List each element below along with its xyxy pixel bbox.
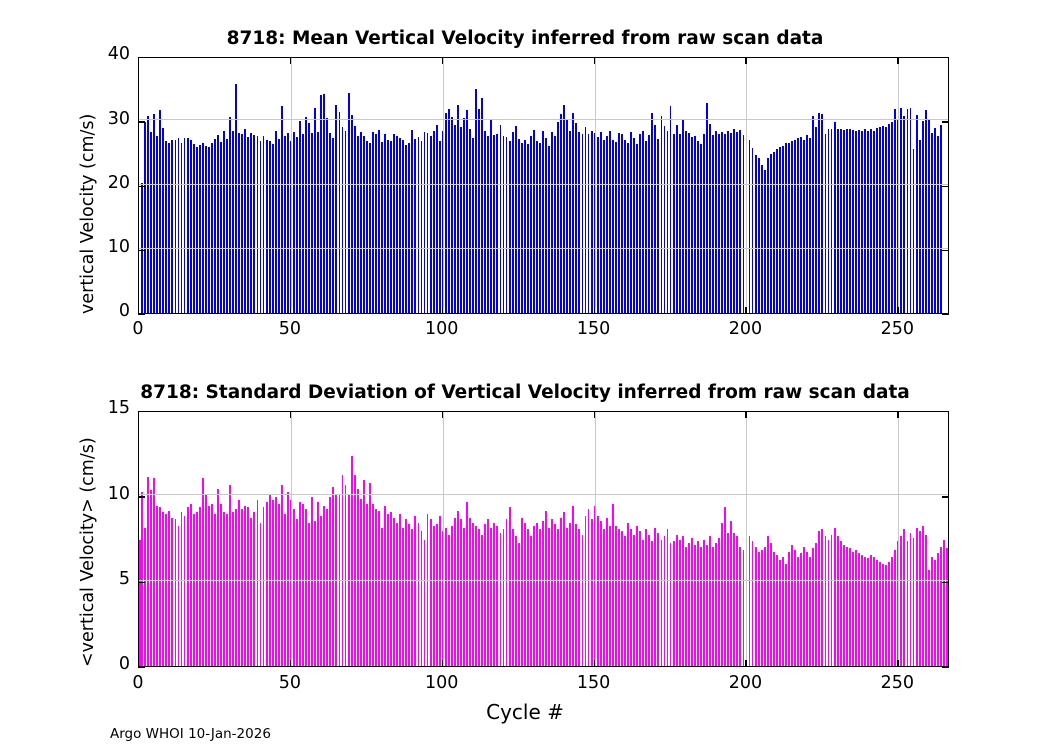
bar (797, 557, 799, 666)
bar (351, 456, 353, 666)
bar (178, 138, 180, 313)
bar (821, 114, 823, 313)
bar (837, 129, 839, 313)
bar (405, 519, 407, 666)
bar (226, 514, 228, 666)
bar (900, 108, 902, 313)
bar (925, 535, 927, 666)
bar (139, 540, 141, 666)
bar (217, 135, 219, 313)
y-tick-mark-right (942, 186, 949, 187)
bar (661, 540, 663, 666)
bar (661, 116, 663, 313)
bar (873, 131, 875, 313)
bar (645, 141, 647, 313)
bar (533, 526, 535, 666)
footer-credit: Argo WHOI 10-Jan-2026 (110, 726, 271, 742)
bar (791, 545, 793, 666)
x-gridline (898, 58, 899, 313)
y-tick-label: 10 (84, 484, 130, 504)
bar (299, 502, 301, 666)
bar (843, 130, 845, 313)
y-tick-mark-right (942, 121, 949, 122)
x-tick-label: 100 (407, 319, 477, 339)
bar (493, 523, 495, 666)
x-tick-mark-top (442, 411, 443, 418)
bar (624, 536, 626, 666)
bar (630, 132, 632, 313)
bar (831, 535, 833, 666)
bar (402, 140, 404, 313)
bar (858, 553, 860, 666)
bar (894, 109, 896, 313)
bar (506, 137, 508, 313)
bar (241, 134, 243, 313)
bar (278, 504, 280, 666)
bar (484, 131, 486, 313)
x-tick-mark-top (745, 411, 746, 418)
y-tick-mark (138, 314, 145, 315)
bar-series-std (139, 412, 948, 666)
bar (773, 552, 775, 666)
bar (788, 552, 790, 666)
bar (335, 105, 337, 313)
bar (208, 147, 210, 313)
bar (266, 502, 268, 666)
bar (776, 149, 778, 313)
x-tick-mark-top (897, 411, 898, 418)
bar (378, 511, 380, 666)
bar (408, 143, 410, 313)
bar (597, 516, 599, 666)
bar (864, 557, 866, 666)
bar (846, 129, 848, 313)
bar (700, 547, 702, 666)
bar (165, 514, 167, 666)
bar (232, 131, 234, 313)
bar (478, 529, 480, 666)
bar (597, 137, 599, 313)
bar (190, 504, 192, 666)
bar (667, 131, 669, 313)
bar (621, 531, 623, 666)
bar (670, 543, 672, 666)
x-gridline (595, 412, 596, 666)
y-tick-label: 20 (84, 173, 130, 193)
bar (548, 146, 550, 313)
bar (366, 504, 368, 666)
bar (460, 519, 462, 666)
bar (475, 526, 477, 666)
bar (639, 531, 641, 666)
bar (846, 547, 848, 666)
bar (931, 133, 933, 313)
bar (411, 529, 413, 666)
bar (506, 519, 508, 666)
x-axis-label: Cycle # (0, 700, 1050, 724)
bar (542, 131, 544, 313)
bar (408, 524, 410, 666)
bar (405, 145, 407, 313)
bar (688, 133, 690, 313)
y-tick-mark-right (942, 250, 949, 251)
bar (184, 138, 186, 313)
x-tick-mark (897, 660, 898, 667)
bar (557, 529, 559, 666)
x-tick-mark (745, 660, 746, 667)
bar (469, 518, 471, 666)
bar (393, 518, 395, 666)
bar (858, 130, 860, 313)
y-gridline (139, 119, 948, 120)
bar (749, 140, 751, 313)
bar (299, 121, 301, 313)
bar (749, 536, 751, 666)
bar (679, 540, 681, 666)
bar (569, 523, 571, 666)
bar (940, 125, 942, 313)
x-tick-mark (897, 307, 898, 314)
bar (791, 141, 793, 313)
bar (679, 134, 681, 313)
bar (220, 504, 222, 666)
bar (563, 512, 565, 666)
bar (448, 535, 450, 666)
bar (478, 109, 480, 313)
bar (736, 536, 738, 666)
bar (317, 502, 319, 666)
bar (855, 131, 857, 313)
bar (937, 553, 939, 666)
x-tick-label: 200 (710, 673, 780, 693)
bar (885, 127, 887, 313)
bar (639, 134, 641, 313)
bar (548, 528, 550, 666)
bar (721, 132, 723, 313)
bar (375, 134, 377, 313)
bar (329, 133, 331, 313)
argo-vertical-velocity-figure: 8718: Mean Vertical Velocity inferred fr… (0, 0, 1050, 750)
bar (761, 550, 763, 666)
bar (241, 509, 243, 666)
bar (785, 143, 787, 313)
bar (715, 543, 717, 666)
bar (572, 506, 574, 666)
bar (582, 535, 584, 666)
bar (156, 506, 158, 666)
bar (700, 144, 702, 313)
bar (815, 127, 817, 313)
bar (752, 541, 754, 666)
bar (718, 538, 720, 666)
bar (913, 149, 915, 313)
bar (342, 127, 344, 313)
bar (466, 110, 468, 313)
bar (618, 133, 620, 313)
bar (512, 132, 514, 313)
bar (648, 135, 650, 313)
bar (919, 531, 921, 666)
bar (770, 543, 772, 666)
bar (257, 136, 259, 313)
bar (214, 514, 216, 666)
bar (472, 138, 474, 313)
bar (363, 136, 365, 313)
bar (542, 521, 544, 666)
bar (642, 540, 644, 666)
bar (399, 138, 401, 313)
bar (178, 526, 180, 666)
bar (278, 139, 280, 313)
bar (539, 143, 541, 313)
bar (509, 507, 511, 666)
y-tick-mark-right (942, 314, 949, 315)
bar (591, 131, 593, 313)
bar (928, 120, 930, 313)
bar (281, 106, 283, 313)
bar (181, 143, 183, 313)
bar (463, 118, 465, 313)
bar (250, 518, 252, 666)
bar (457, 105, 459, 313)
x-tick-mark-top (290, 57, 291, 64)
bar (342, 475, 344, 666)
bar (305, 509, 307, 666)
y-gridline (139, 494, 948, 495)
bar (345, 131, 347, 313)
x-tick-label: 0 (103, 319, 173, 339)
bar (585, 516, 587, 666)
bar (202, 143, 204, 313)
bar (500, 533, 502, 666)
bar (454, 125, 456, 313)
bar (852, 130, 854, 313)
bar (214, 139, 216, 313)
bar (396, 523, 398, 666)
bar (208, 506, 210, 666)
y-tick-mark-right (942, 582, 949, 583)
bar (682, 119, 684, 313)
bar (755, 155, 757, 313)
bar (624, 140, 626, 313)
bar (706, 545, 708, 666)
x-tick-mark-top (138, 57, 139, 64)
bar (630, 529, 632, 666)
bar (503, 136, 505, 313)
bar (849, 548, 851, 666)
bar (238, 133, 240, 313)
x-tick-mark (138, 660, 139, 667)
bar (305, 117, 307, 313)
bar (676, 535, 678, 666)
bar (326, 509, 328, 666)
bar (147, 477, 149, 666)
bar (712, 547, 714, 666)
bar (812, 548, 814, 666)
bar (636, 144, 638, 313)
bar (354, 475, 356, 666)
bar (518, 543, 520, 666)
bar (697, 541, 699, 666)
bar (357, 489, 359, 666)
bar (861, 555, 863, 666)
bar (545, 511, 547, 666)
bar (375, 509, 377, 666)
bar (436, 125, 438, 313)
bar (500, 125, 502, 313)
bar (673, 541, 675, 666)
bar (390, 512, 392, 666)
bar (664, 536, 666, 666)
bar (393, 134, 395, 313)
bar (685, 547, 687, 666)
bar (156, 136, 158, 313)
y-tick-label: 30 (84, 109, 130, 129)
bar (891, 557, 893, 666)
bar (490, 120, 492, 313)
bar (247, 507, 249, 666)
bar (888, 562, 890, 666)
bar (867, 558, 869, 666)
chart-title-mean: 8718: Mean Vertical Velocity inferred fr… (0, 28, 1050, 49)
bar (293, 132, 295, 313)
bar (664, 126, 666, 313)
bar (317, 132, 319, 313)
bar (685, 131, 687, 313)
bar (366, 141, 368, 313)
bar (220, 142, 222, 313)
bar (852, 552, 854, 666)
bar (284, 136, 286, 313)
bar (199, 507, 201, 666)
bar (636, 526, 638, 666)
bar (515, 536, 517, 666)
bar (934, 560, 936, 666)
bar (694, 136, 696, 313)
bar (448, 109, 450, 313)
bar (788, 143, 790, 313)
bar (302, 504, 304, 666)
bar (946, 548, 948, 666)
bar (381, 142, 383, 313)
bar (834, 528, 836, 666)
bar (226, 139, 228, 313)
bar (187, 507, 189, 666)
bar (266, 140, 268, 313)
bar (928, 570, 930, 666)
bar (411, 130, 413, 313)
bar (773, 152, 775, 313)
bar (588, 509, 590, 666)
chart-title-std: 8718: Standard Deviation of Vertical Vel… (0, 382, 1050, 403)
x-tick-mark (138, 307, 139, 314)
x-tick-label: 250 (862, 319, 932, 339)
bar (451, 117, 453, 313)
bar (831, 129, 833, 313)
y-gridline (139, 248, 948, 249)
bar (873, 557, 875, 666)
bar (427, 133, 429, 313)
x-tick-mark-top (442, 57, 443, 64)
bar (600, 521, 602, 666)
bar (755, 547, 757, 666)
y-tick-mark (138, 496, 145, 497)
bar (727, 533, 729, 666)
bar (891, 122, 893, 313)
bar (657, 533, 659, 666)
bar (430, 136, 432, 313)
bar (205, 495, 207, 666)
bar (332, 138, 334, 313)
bar (357, 136, 359, 313)
bar (302, 134, 304, 313)
bar (940, 547, 942, 666)
bar (235, 84, 237, 313)
bar (308, 523, 310, 666)
bar (721, 523, 723, 666)
bar (475, 89, 477, 313)
bar (484, 524, 486, 666)
bar (354, 126, 356, 313)
bar (193, 514, 195, 666)
x-tick-mark-top (745, 57, 746, 64)
bar (621, 134, 623, 313)
bar (378, 130, 380, 313)
bar (430, 519, 432, 666)
x-tick-mark (290, 660, 291, 667)
bar (554, 136, 556, 313)
bar (694, 545, 696, 666)
bar (196, 512, 198, 666)
bar (739, 130, 741, 313)
bar (260, 523, 262, 666)
bar (284, 514, 286, 666)
bar (175, 519, 177, 666)
bar (433, 526, 435, 666)
bar (460, 127, 462, 313)
bar (591, 519, 593, 666)
y-axis-label-mean: vertical Velocity (cm/s) (78, 114, 98, 314)
bar (175, 140, 177, 313)
bar (709, 124, 711, 313)
x-tick-mark (594, 660, 595, 667)
bar (332, 487, 334, 666)
bar (496, 526, 498, 666)
bar (345, 485, 347, 666)
bar (903, 529, 905, 666)
y-tick-label: 0 (84, 654, 130, 674)
bar (518, 139, 520, 313)
bar (275, 497, 277, 666)
bar (250, 133, 252, 313)
bar (761, 165, 763, 313)
plot-area-std (138, 411, 949, 667)
bar (752, 148, 754, 313)
bar (572, 113, 574, 313)
bar (603, 529, 605, 666)
bar (424, 540, 426, 666)
bar (339, 112, 341, 313)
bar (916, 528, 918, 666)
bar (296, 519, 298, 666)
y-axis-label-std: <vertical Velocity> (cm/s) (78, 437, 98, 667)
bar (229, 485, 231, 666)
bar (806, 135, 808, 313)
bar (667, 529, 669, 666)
bar (803, 547, 805, 666)
bar (758, 158, 760, 313)
bar (421, 141, 423, 313)
